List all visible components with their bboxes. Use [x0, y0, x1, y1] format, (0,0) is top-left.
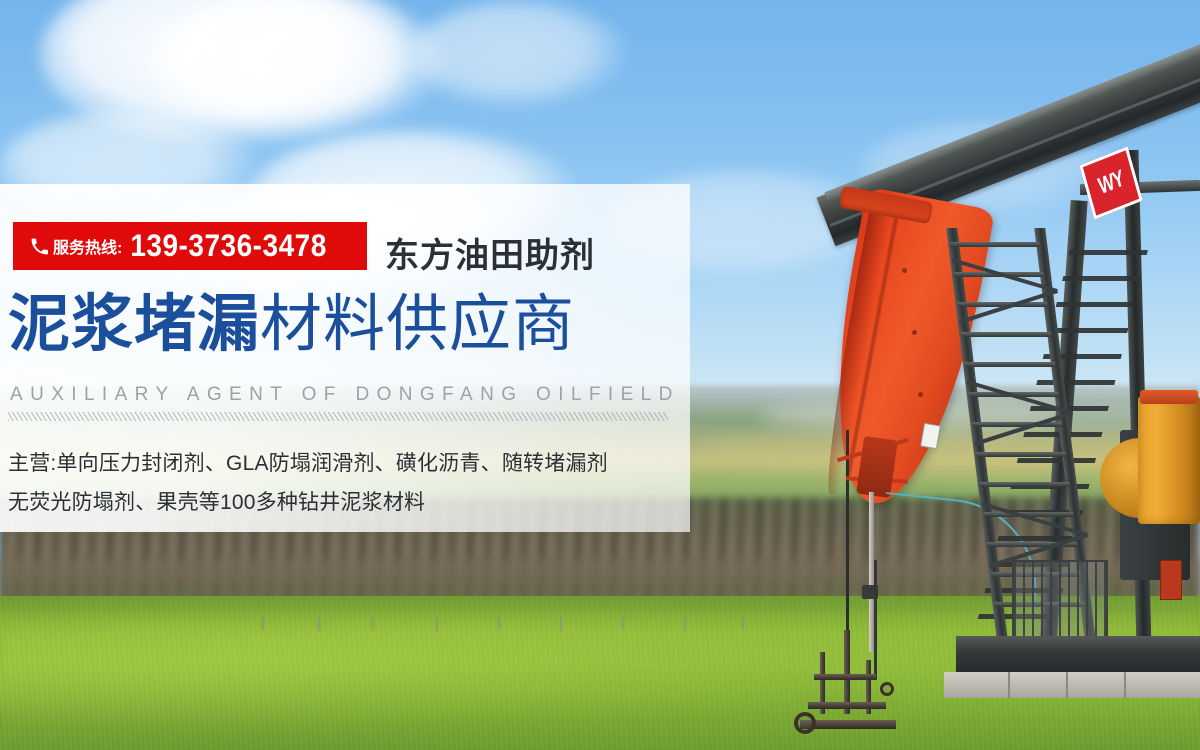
- horsehead-bolt: [912, 330, 917, 335]
- phone-icon: [30, 237, 49, 256]
- guard-mesh-panel: [1012, 560, 1108, 638]
- ladder-rung: [961, 332, 1052, 337]
- product-description-line: 主营:单向压力封闭剂、GLA防塌润滑剂、磺化沥青、随转堵漏剂: [8, 444, 668, 483]
- gearbox-housing: [1138, 396, 1200, 524]
- headline-light: 材料供应商: [260, 290, 575, 359]
- ladder-rung: [972, 422, 1063, 427]
- pad-joint-line: [1008, 672, 1010, 698]
- wellhead-handwheel: [880, 682, 894, 696]
- page-title: 泥浆堵漏材料供应商: [8, 294, 575, 356]
- headline-strong: 泥浆堵漏: [8, 290, 260, 359]
- equipment-brand-text: WY: [1096, 165, 1127, 200]
- english-subtitle: AUXILIARY AGENT OF DONGFANG OILFIELD: [10, 384, 680, 406]
- hatched-divider: [8, 412, 668, 421]
- vertical-guide-post: [846, 430, 849, 660]
- pumpjack-skid-base: [956, 636, 1200, 676]
- hero-banner: WY: [0, 0, 1200, 750]
- pad-joint-line: [1066, 672, 1068, 698]
- hotline-bar[interactable]: 服务热线: 139-3736-3478: [13, 222, 367, 270]
- company-name: 东方油田助剂: [385, 228, 595, 277]
- equipment-warning-box: [1160, 560, 1182, 600]
- product-description: 主营:单向压力封闭剂、GLA防塌润滑剂、磺化沥青、随转堵漏剂 无荧光防塌剂、果壳…: [8, 444, 668, 522]
- wellhead-flowline: [808, 702, 886, 709]
- ladder-rung: [979, 482, 1070, 487]
- wellhead-handwheel: [794, 712, 816, 734]
- horsehead-warning-label: [920, 423, 941, 450]
- hotline-label: 服务热线:: [53, 234, 122, 258]
- pad-joint-line: [1124, 672, 1126, 698]
- wellhead-crossover: [814, 674, 876, 680]
- product-description-line: 无荧光防塌剂、果壳等100多种钻井泥浆材料: [8, 483, 668, 522]
- gearbox-top-cap: [1140, 390, 1198, 404]
- ladder-rung: [950, 242, 1041, 247]
- ladder-rung: [965, 362, 1056, 367]
- horsehead-bolt: [918, 392, 923, 397]
- ladder-rung: [976, 452, 1067, 457]
- hotline-number: 139-3736-3478: [130, 228, 326, 264]
- horsehead-bolt: [902, 268, 907, 273]
- concrete-pad: [944, 672, 1200, 698]
- wellhead-assembly: [790, 630, 920, 740]
